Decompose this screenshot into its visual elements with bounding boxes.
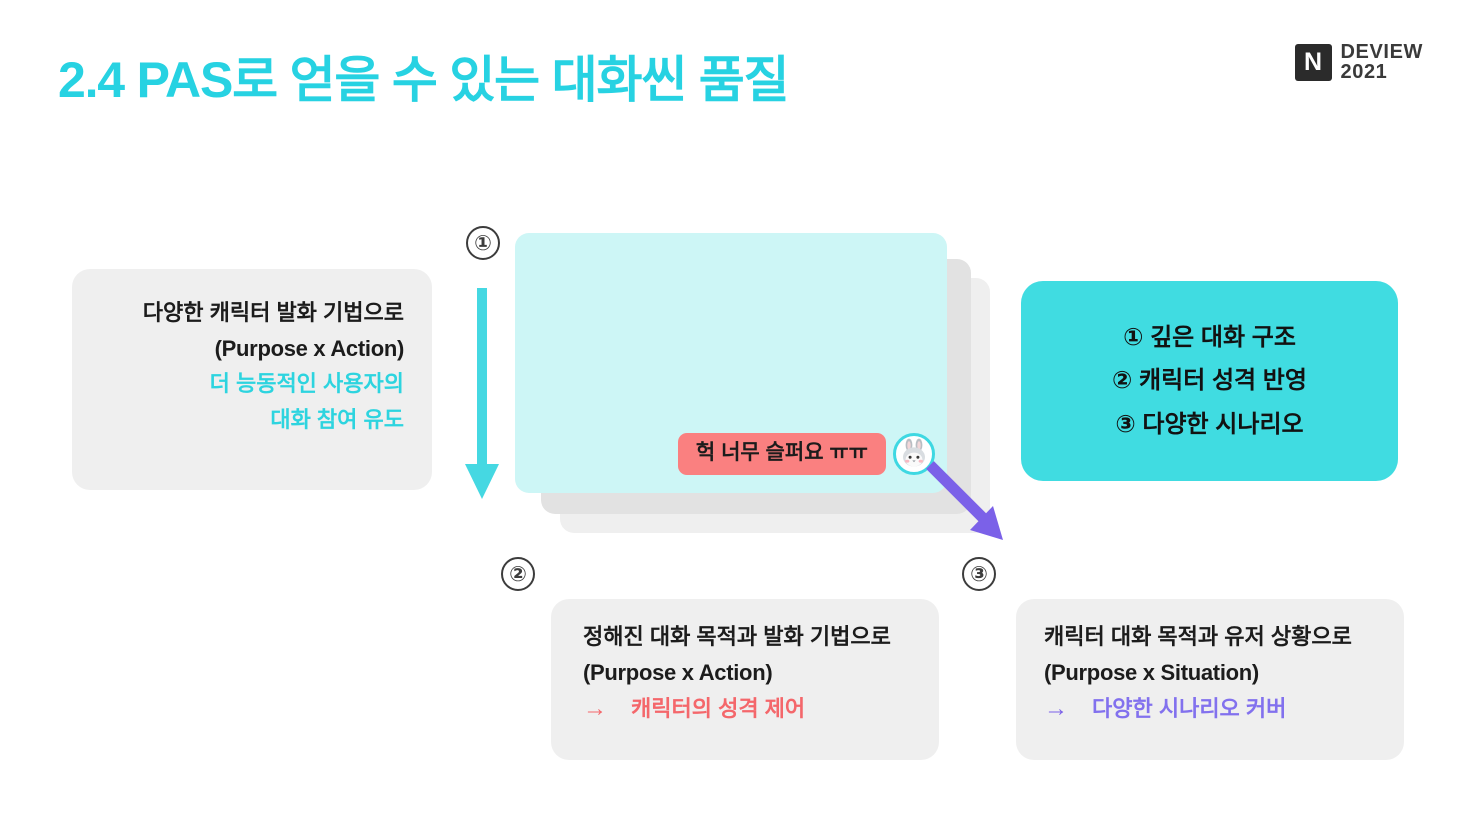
naver-n-icon: N bbox=[1295, 44, 1332, 81]
result-line-3: ③ 다양한 시나리오 bbox=[1115, 406, 1303, 443]
callout-center-result: 캐릭터의 성격 제어 bbox=[631, 691, 805, 727]
step-marker-2: ② bbox=[501, 557, 535, 591]
callout-right-line1: 캐릭터 대화 목적과 유저 상황으로 bbox=[1044, 619, 1404, 655]
callout-center-result-row: → 캐릭터의 성격 제어 bbox=[583, 690, 939, 729]
right-arrow-icon: → bbox=[1044, 690, 1068, 729]
result-summary-box: ① 깊은 대화 구조 ② 캐릭터 성격 반영 ③ 다양한 시나리오 bbox=[1021, 281, 1398, 481]
callout-left-body: 다양한 캐릭터 발화 기법으로 (Purpose x Action) → 더 능… bbox=[72, 295, 404, 438]
deview-logo-text: DEVIEW 2021 bbox=[1341, 42, 1424, 83]
callout-left-line2: (Purpose x Action) bbox=[72, 331, 404, 367]
callout-center-line2: (Purpose x Action) bbox=[583, 655, 939, 691]
callout-left-result-line2: 대화 참여 유도 bbox=[270, 402, 404, 438]
callout-box-left: 다양한 캐릭터 발화 기법으로 (Purpose x Action) → 더 능… bbox=[72, 269, 432, 490]
down-arrow-icon bbox=[462, 288, 502, 505]
callout-right-line2: (Purpose x Situation) bbox=[1044, 655, 1404, 691]
callout-left-result-row1: → 더 능동적인 사용자의 bbox=[72, 366, 404, 402]
chat-bubble: 헉 너무 슬퍼요 ㅠㅠ bbox=[678, 433, 886, 474]
step-marker-3: ③ bbox=[962, 557, 996, 591]
chat-message-row: 헉 너무 슬퍼요 ㅠㅠ bbox=[678, 433, 935, 475]
card-front-layer: 헉 너무 슬퍼요 ㅠㅠ bbox=[515, 233, 947, 493]
right-arrow-icon: → bbox=[583, 690, 607, 729]
deview-logo-line1: DEVIEW bbox=[1341, 42, 1424, 62]
page-title: 2.4 PAS로 얻을 수 있는 대화씬 품질 bbox=[58, 40, 788, 112]
diagonal-arrow-icon bbox=[925, 460, 1013, 553]
callout-center-line1: 정해진 대화 목적과 발화 기법으로 bbox=[583, 619, 939, 655]
callout-left-line1: 다양한 캐릭터 발화 기법으로 bbox=[72, 295, 404, 331]
callout-right-result: 다양한 시나리오 커버 bbox=[1092, 691, 1286, 727]
result-line-2: ② 캐릭터 성격 반영 bbox=[1112, 362, 1307, 399]
callout-right-result-row: → 다양한 시나리오 커버 bbox=[1044, 690, 1404, 729]
callout-box-center: 정해진 대화 목적과 발화 기법으로 (Purpose x Action) → … bbox=[551, 599, 939, 760]
callout-left-result-line1: 더 능동적인 사용자의 bbox=[210, 366, 404, 402]
callout-left-result-row2: 대화 참여 유도 bbox=[72, 402, 404, 438]
callout-box-right: 캐릭터 대화 목적과 유저 상황으로 (Purpose x Situation)… bbox=[1016, 599, 1404, 760]
step-marker-1: ① bbox=[466, 226, 500, 260]
result-line-1: ① 깊은 대화 구조 bbox=[1123, 319, 1296, 356]
deview-logo-line2: 2021 bbox=[1341, 62, 1424, 82]
deview-logo: N DEVIEW 2021 bbox=[1295, 42, 1424, 83]
